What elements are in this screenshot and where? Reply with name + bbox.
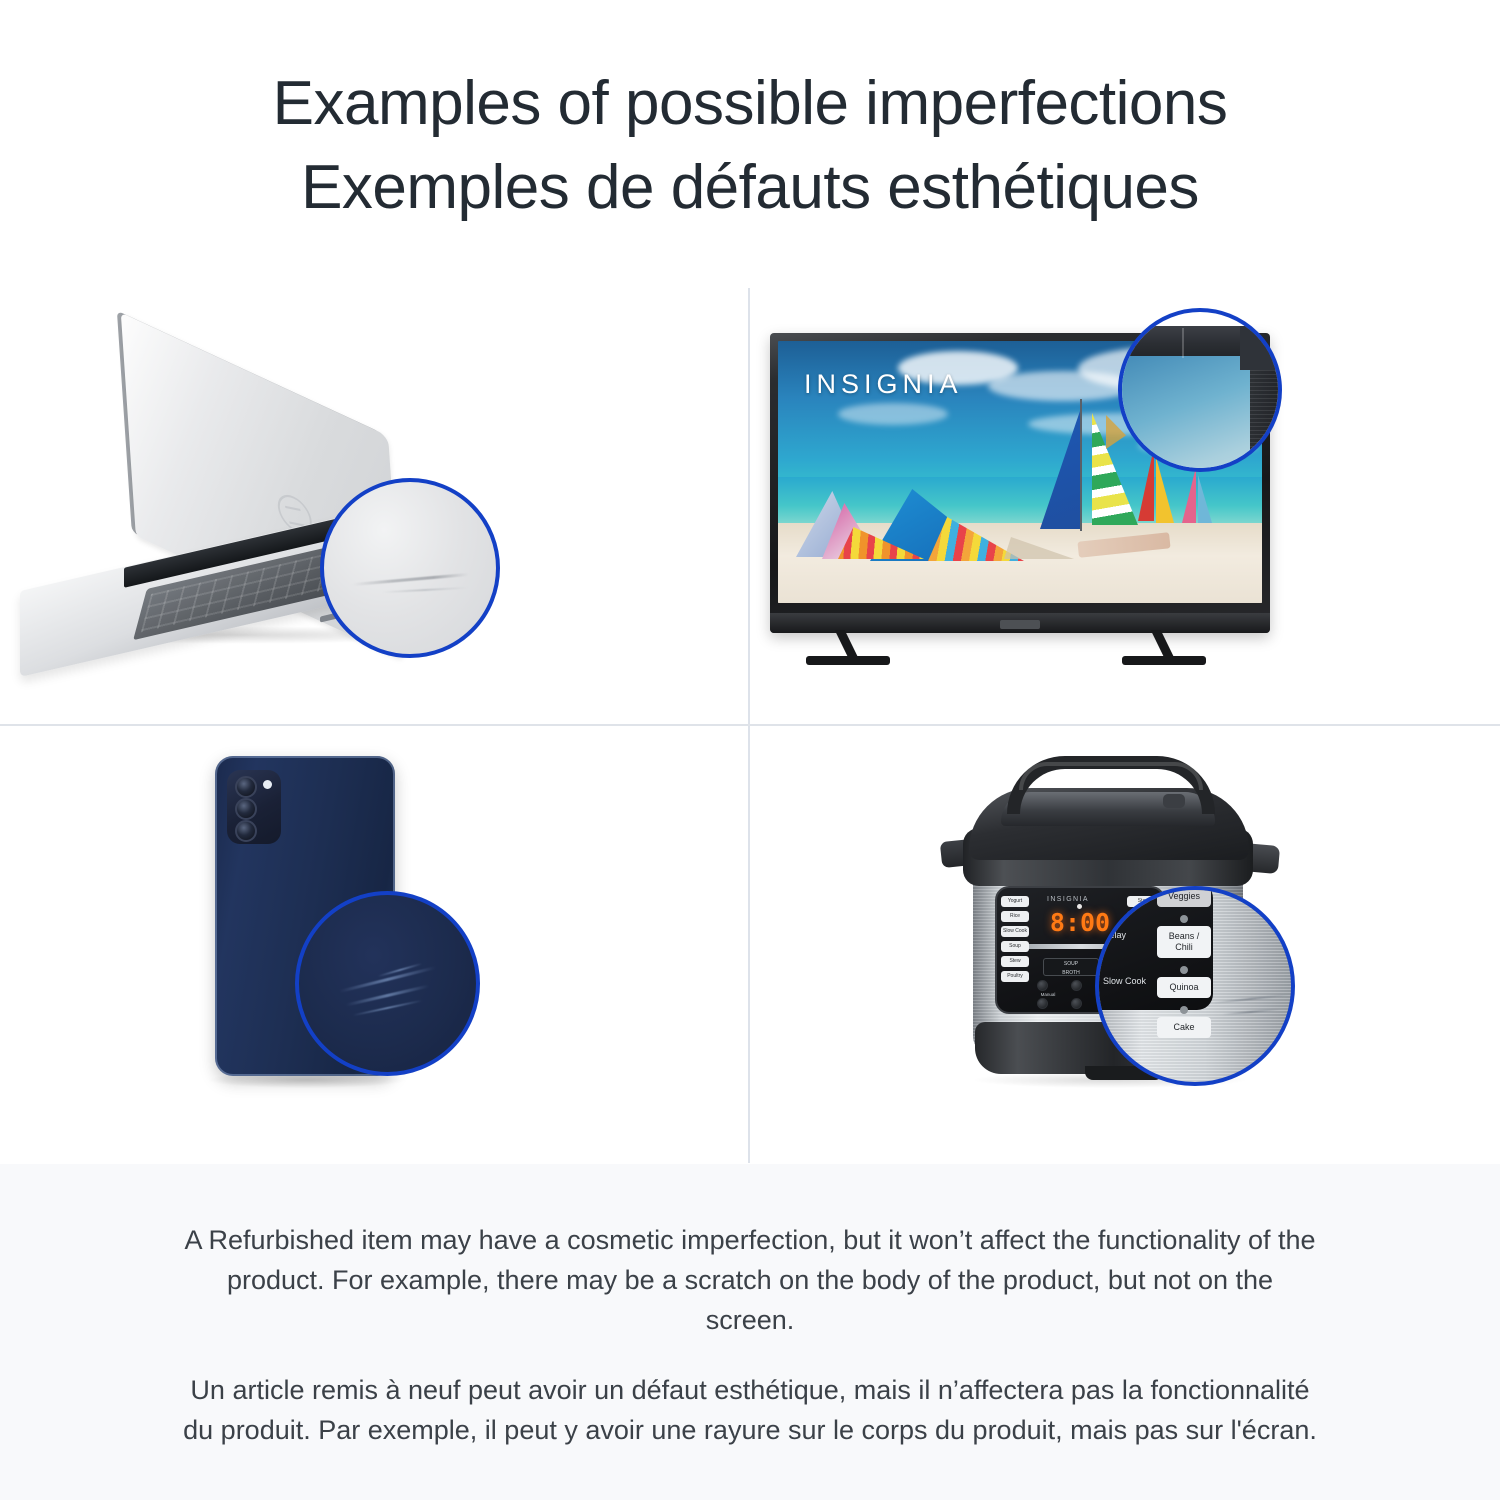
- cooker-round-button-manual[interactable]: [1037, 980, 1048, 991]
- cooker-lens-button-quinoa: Quinoa: [1157, 977, 1211, 998]
- cooker-button-yogurt[interactable]: Yogurt: [1001, 896, 1029, 907]
- camera-flash-icon: [263, 780, 272, 789]
- cooker-button-stew[interactable]: Stew: [1001, 956, 1029, 967]
- magnifier-cooker-scratch: Delay Slow Cook Veggies Beans / Chili Qu…: [1095, 886, 1295, 1086]
- disclaimer-english: A Refurbished item may have a cosmetic i…: [180, 1164, 1320, 1340]
- title-line-french: Exemples de défauts esthétiques: [0, 146, 1500, 230]
- cooker-mini-display: SOUP BROTH: [1043, 958, 1099, 976]
- cooker-handle-highlight: [1019, 762, 1203, 790]
- tv-corner-screen-area: [1118, 352, 1262, 472]
- footer-disclaimer: A Refurbished item may have a cosmetic i…: [0, 1164, 1500, 1500]
- cooker-lens-button-veggies: Veggies: [1157, 886, 1211, 907]
- laptop-scratch-mark-1: [352, 573, 469, 586]
- cooker-button-poultry[interactable]: Poultry: [1001, 971, 1029, 982]
- tv-illustration: INSIGNIA: [770, 308, 1330, 698]
- tv-brand-badge: [1000, 620, 1040, 629]
- laptop-scratch-mark-2: [382, 586, 468, 592]
- grid-cell-tv: INSIGNIA: [750, 288, 1500, 724]
- tv-corner-rounded-edge: [1240, 326, 1282, 370]
- tv-corner-seam-mark: [1182, 328, 1184, 358]
- product-examples-grid: INSIGNIA: [0, 288, 1500, 1163]
- cooker-lens-label-slow-cook: Slow Cook: [1103, 976, 1146, 986]
- disclaimer-french: Un article remis à neuf peut avoir un dé…: [180, 1340, 1320, 1450]
- cooker-round-button-keepwarm[interactable]: [1071, 980, 1082, 991]
- magnifier-laptop-scratch: [320, 478, 500, 658]
- cooker-round-button-steam[interactable]: [1037, 998, 1048, 1009]
- tv-stand-leg-left: [806, 630, 892, 672]
- laptop-illustration: [20, 368, 490, 658]
- cloud-shape: [838, 403, 948, 425]
- magnifier-phone-scratches: [295, 891, 480, 1076]
- phone-camera-module: [227, 770, 281, 844]
- camera-lens-icon: [235, 820, 257, 842]
- cooker-lens-button-column: Veggies Beans / Chili Quinoa Cake: [1157, 886, 1211, 1046]
- cooker-left-button-column[interactable]: Yogurt Rice Slow Cook Soup Stew Poultry: [1001, 896, 1029, 986]
- cooker-lens-indicator-dot: [1180, 966, 1188, 974]
- grid-cell-pressure-cooker: INSIGNIA 8:00 SOUP BROTH Yogurt Rice Sl: [750, 726, 1500, 1163]
- title-line-english: Examples of possible imperfections: [0, 62, 1500, 146]
- grid-cell-laptop: [0, 288, 748, 724]
- cooker-lens-indicator-dot: [1180, 915, 1188, 923]
- page-title: Examples of possible imperfections Exemp…: [0, 62, 1500, 230]
- phone-illustration: [215, 756, 545, 1126]
- tv-screen-brand-logo: INSIGNIA: [804, 369, 963, 400]
- cooker-round-label-manual: Manual: [1031, 992, 1065, 997]
- tv-stand-leg-right: [1122, 630, 1208, 672]
- cooker-lens-indicator-dot: [1180, 1006, 1188, 1014]
- camera-lens-icon: [235, 776, 257, 798]
- cooker-lens-button-beans-chili: Beans / Chili: [1157, 926, 1211, 958]
- cooker-round-button-slowcook[interactable]: [1071, 998, 1082, 1009]
- cooker-lens-button-cake: Cake: [1157, 1017, 1211, 1038]
- grid-cell-phone: [0, 726, 748, 1163]
- cooker-lens-label-delay: Delay: [1103, 930, 1126, 940]
- cooker-mini-display-line2: BROTH: [1044, 968, 1098, 977]
- pressure-cooker-illustration: INSIGNIA 8:00 SOUP BROTH Yogurt Rice Sl: [935, 736, 1335, 1136]
- cooker-brand-label: INSIGNIA: [1047, 896, 1089, 903]
- cooker-mini-display-line1: SOUP: [1044, 959, 1098, 968]
- cooker-button-rice[interactable]: Rice: [1001, 911, 1029, 922]
- camera-lens-icon: [235, 798, 257, 820]
- cooker-button-slow-cook[interactable]: Slow Cook: [1001, 926, 1029, 937]
- cooker-button-soup[interactable]: Soup: [1001, 941, 1029, 952]
- refurbished-imperfections-infographic: Examples of possible imperfections Exemp…: [0, 0, 1500, 1500]
- sailboat-mast: [1080, 399, 1082, 531]
- magnifier-tv-corner: [1118, 308, 1282, 472]
